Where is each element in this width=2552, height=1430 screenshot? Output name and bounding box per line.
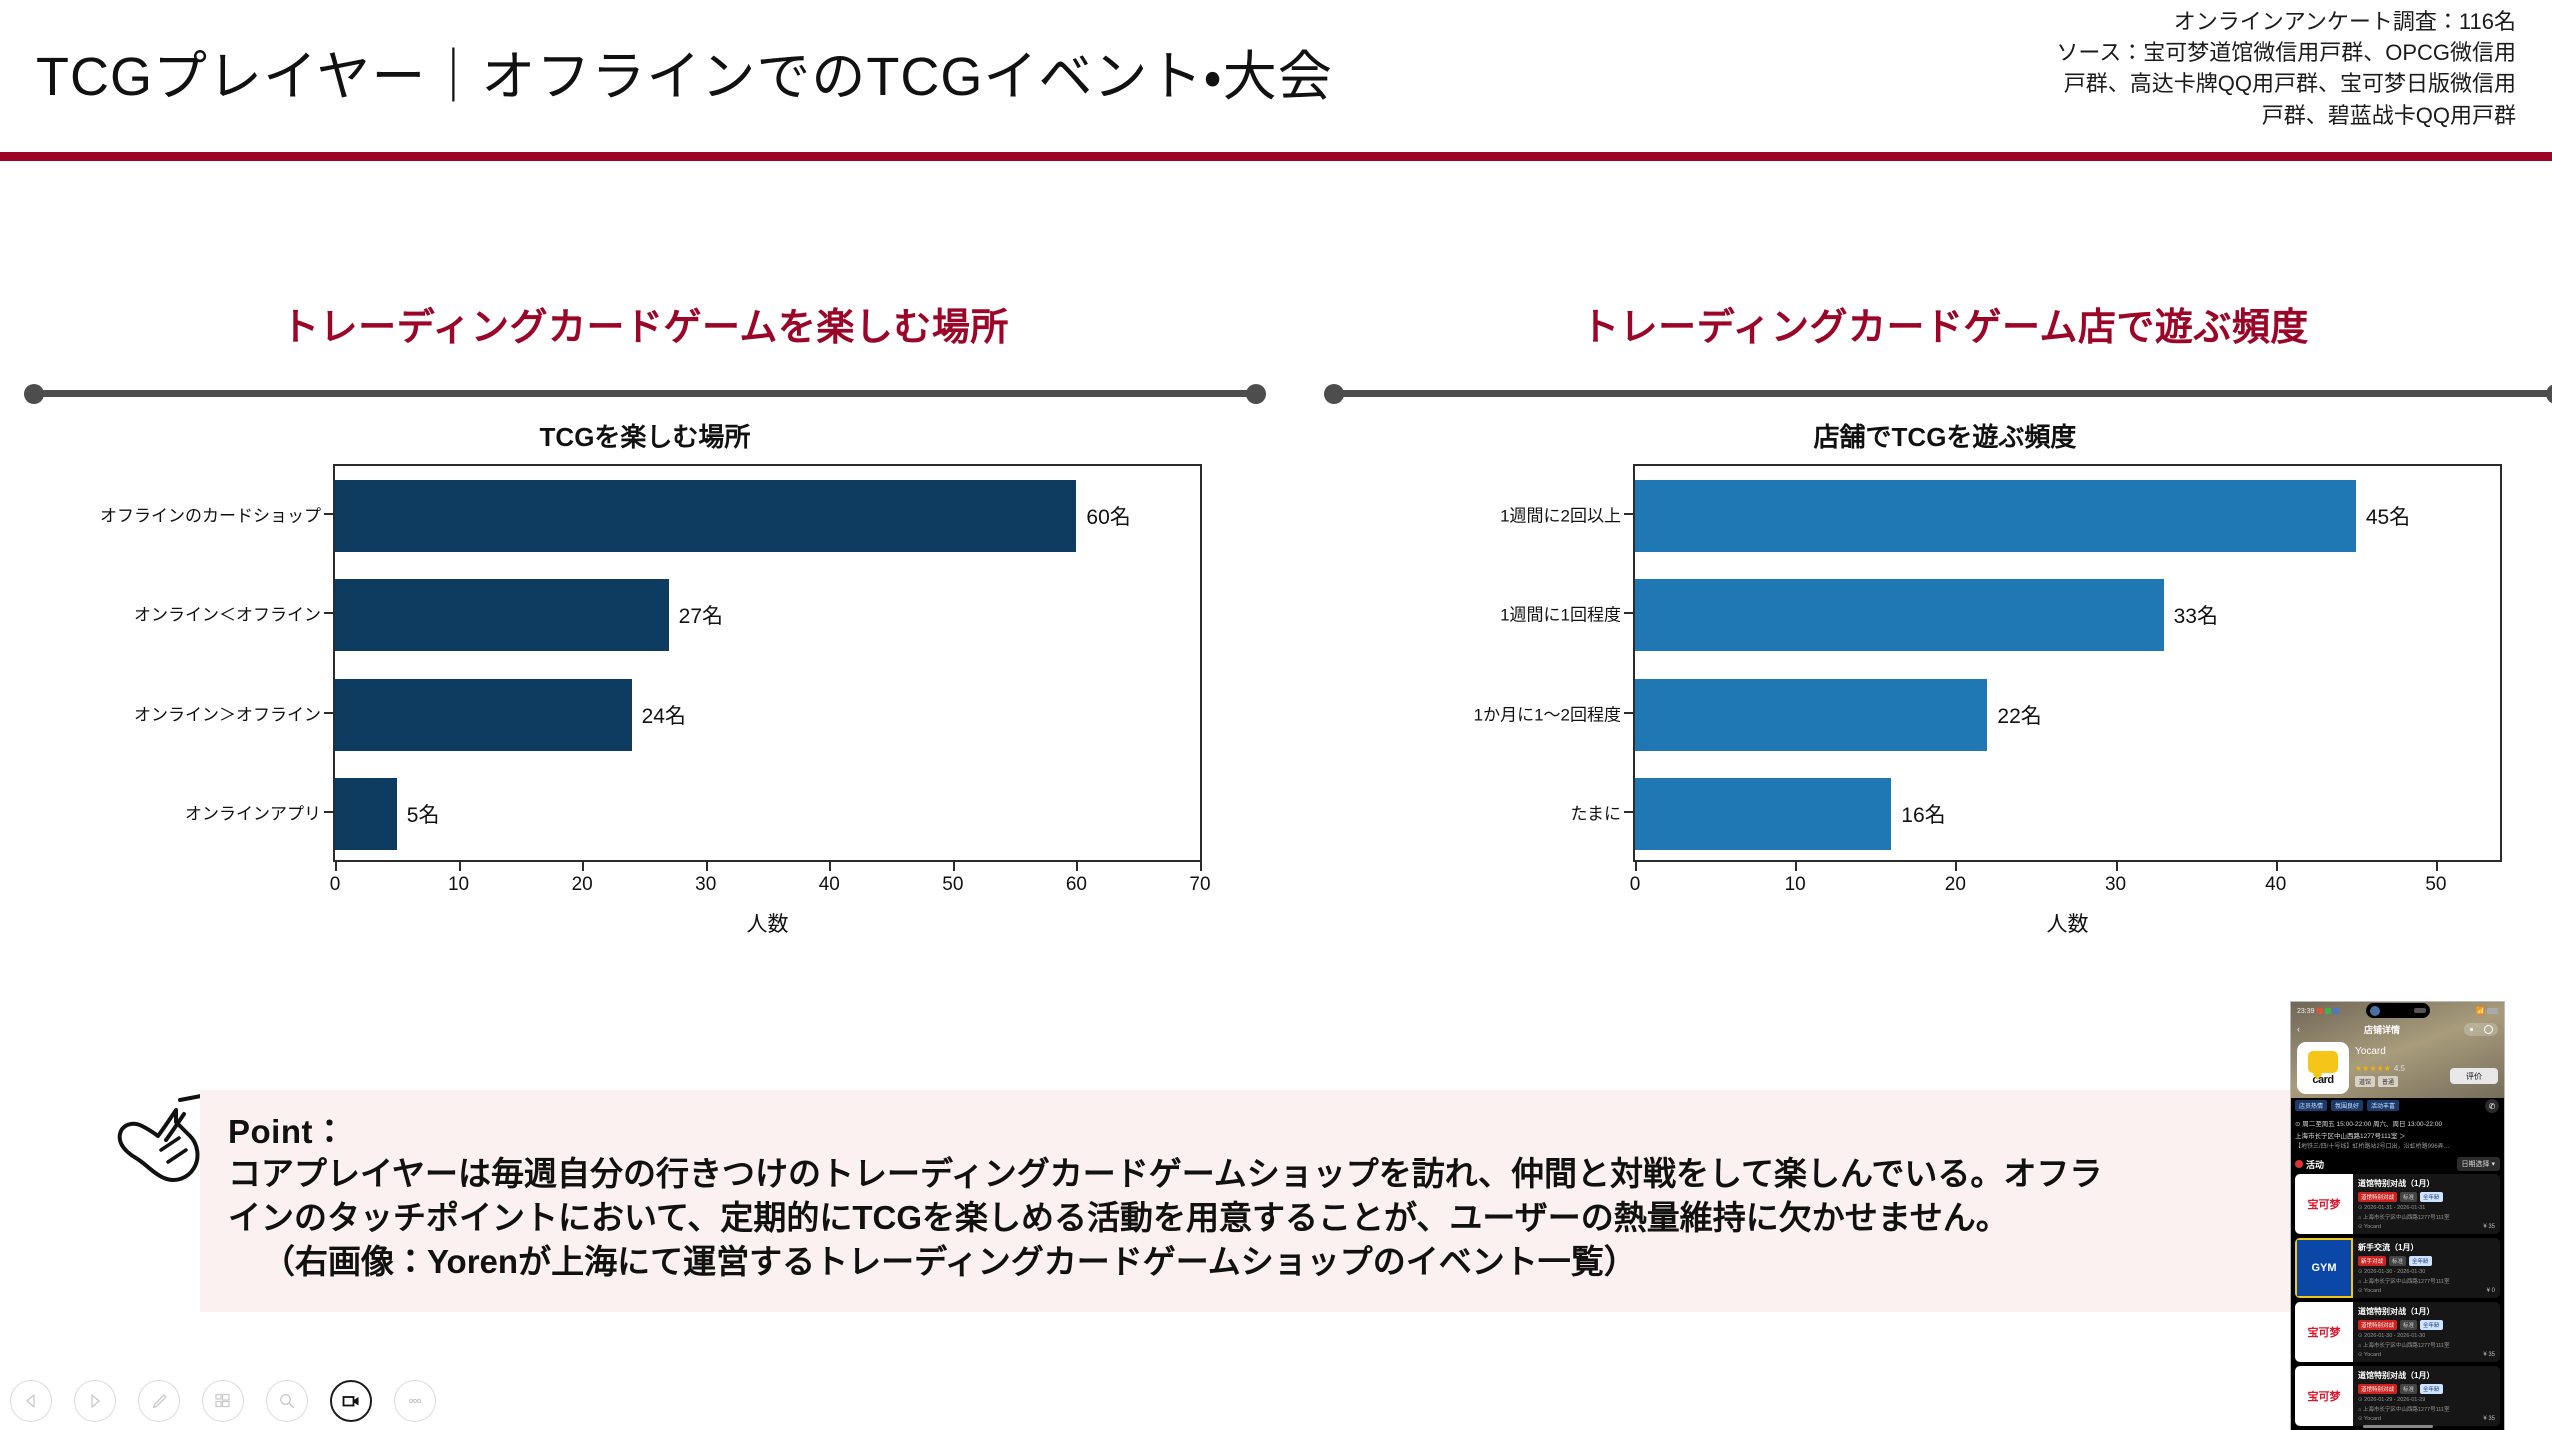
plot-box-left: 60名27名24名5名 [333,464,1202,862]
point-label: Point： [228,1112,2280,1152]
panel-divider-right [1320,382,2552,404]
x-axis-title-right: 人数 [1633,908,2502,938]
stars-icon: ★★★★★ [2355,1064,2391,1073]
shop-hours: ⊙ 周二至周五 15:00-22:00 周六、周日 13:00-22:00 [2295,1118,2500,1128]
panel-heading-right: トレーディングカードゲーム店で遊ぶ頻度 [1320,300,2552,360]
shop-chip: 普通 [2378,1076,2398,1087]
shop-rating: ★★★★★4.5 [2355,1064,2405,1073]
header-accent-rule [0,152,2552,161]
shop-transit: 【地铁三/四/十号线】虹桥路站2号口出，沿虹桥路996弄… [2295,1141,2500,1150]
event-date: ⊙ 2026-01-29 - 2026-01-29 [2358,1397,2496,1403]
bar [1635,679,1987,751]
divider-dot-right [2546,384,2552,404]
event-badge: 标准 [2400,1384,2417,1394]
event-name: 道馆特别对战（1月） [2358,1178,2496,1189]
event-card[interactable]: 宝可梦道馆特别对战（1月）道馆特别对战标准全年龄⊙ 2026-01-29 - 2… [2295,1366,2500,1426]
category-tick [324,811,333,813]
category-label: オンライン＞オフライン [20,700,333,725]
event-badge: 全年龄 [2420,1384,2443,1394]
bar-row: 27名 [335,579,1200,651]
x-tick-label: 70 [1189,874,1210,896]
x-tick-mark [2436,862,2438,871]
bar-value-label: 33名 [2164,600,2218,630]
x-axis-title-left: 人数 [333,908,1202,938]
bar-row: 60名 [335,480,1200,552]
event-badge: 标准 [2400,1320,2417,1330]
x-tick-mark [829,862,831,871]
bar-value-label: 45名 [2356,501,2410,531]
phone-nav-bar: ‹ 店铺详情 [2291,1020,2504,1038]
triangle-right-icon [87,1393,103,1409]
phone-nav-title: 店铺详情 [2300,1023,2464,1036]
category-label: オフラインのカードショップ [20,501,333,526]
bar [335,579,669,651]
presentation-toolbar [10,1380,436,1422]
divider-line [1332,390,2552,397]
event-info: 道馆特别对战（1月）道馆特别对战标准全年龄⊙ 2026-01-30 - 2026… [2353,1302,2500,1362]
x-tick-mark [953,862,955,871]
x-tick-label: 50 [2425,874,2446,896]
plot-area-right: 45名33名22名16名 1週間に2回以上1週間に1回程度1か月に1〜2回程度た… [1320,456,2552,926]
thumbnails-button[interactable] [202,1380,244,1422]
triangle-left-icon [23,1393,39,1409]
event-badge: 道馆特别对战 [2358,1192,2397,1202]
event-badge: 全年龄 [2420,1320,2443,1330]
divider-line [32,390,1258,397]
event-organizer: ⊙ Yocard [2358,1352,2496,1358]
magnifier-icon [278,1392,296,1410]
bar-row: 5名 [335,778,1200,850]
pen-button[interactable] [138,1380,180,1422]
x-tick-mark [1076,862,1078,871]
dynamic-island [2366,1003,2430,1018]
shop-name: Yocard [2355,1046,2386,1057]
events-section-label: 活动 [2306,1158,2324,1171]
bars-layer-left: 60名27名24名5名 [335,466,1200,860]
event-organizer: ⊙ Yocard [2358,1416,2496,1422]
event-badge: 道馆特别对战 [2358,1320,2397,1330]
bar-row: 24名 [335,679,1200,751]
category-label: オンライン＜オフライン [20,601,333,626]
point-line-3: （右画像：Yorenが上海にて運営するトレーディングカードゲームショップのイベン… [228,1240,2280,1284]
category-label: 1週間に1回程度 [1320,601,1633,626]
event-name: 道馆特别对战（1月） [2358,1306,2496,1317]
event-name: 道馆特别对战（1月） [2358,1370,2496,1381]
event-badges: 道馆特别对战标准全年龄 [2358,1384,2496,1394]
review-button[interactable]: 评价 [2450,1068,2498,1084]
ellipsis-icon [2470,1028,2473,1031]
panel-divider-left [20,382,1270,404]
bars-layer-right: 45名33名22名16名 [1635,466,2500,860]
x-tick-label: 0 [330,874,341,896]
phone-screenshot: 23:39 📶 ‹ 店铺详情 card Yocard ★★★★★4.5 道馆 普… [2291,1002,2504,1430]
video-button[interactable] [330,1380,372,1422]
event-date: ⊙ 2026-01-30 - 2026-01-30 [2358,1269,2496,1275]
event-name: 新手交流（1月） [2358,1242,2496,1253]
close-circle-icon[interactable] [2484,1025,2493,1034]
panel-left: トレーディングカードゲームを楽しむ場所 TCGを楽しむ場所 60名27名24名5… [20,300,1270,942]
event-venue: ⌂ 上海市长宁区中山西路1277号111室 [2358,1213,2496,1221]
bar [1635,778,1891,850]
slide-header: TCGプレイヤー｜オフラインでのTCGイベント・大会 オンラインアンケート調査：… [0,0,2552,160]
logo-mark-icon [2308,1051,2338,1073]
bar-row: 45名 [1635,480,2500,552]
bar-value-label: 16名 [1891,799,1945,829]
status-app-icon [2333,1008,2339,1014]
previous-slide-button[interactable] [10,1380,52,1422]
bar-row: 16名 [1635,778,2500,850]
event-card[interactable]: 宝可梦道馆特别对战（1月）道馆特别对战标准全年龄⊙ 2026-01-31 - 2… [2295,1174,2500,1234]
home-indicator [2363,1425,2433,1428]
bar-value-label: 5名 [397,799,440,829]
panel-right: トレーディングカードゲーム店で遊ぶ頻度 店舗でTCGを遊ぶ頻度 45名33名22… [1320,300,2552,942]
category-tick [1624,612,1633,614]
event-thumbnail: GYM [2295,1238,2353,1298]
event-organizer: ⊙ Yocard [2358,1288,2496,1294]
shop-type-chips: 道馆 普通 [2355,1076,2398,1087]
events-section-header: 活动 日期选择 ▾ [2295,1156,2500,1172]
wifi-icon: 📶 [2476,1007,2485,1015]
shop-address[interactable]: 上海市长宁区中山西路1277号111室 ＞ [2295,1130,2500,1140]
x-tick-mark [459,862,461,871]
status-app-icon [2325,1008,2331,1014]
grid-icon [214,1392,232,1410]
status-app-icon [2317,1008,2323,1014]
category-tick [1624,712,1633,714]
event-thumbnail: 宝可梦 [2295,1302,2353,1362]
category-tick [324,612,333,614]
chart-right: 店舗でTCGを遊ぶ頻度 45名33名22名16名 1週間に2回以上1週間に1回程… [1320,422,2552,942]
event-badges: 道馆特别对战标准全年龄 [2358,1192,2496,1202]
event-price: ¥ 35 [2483,1224,2495,1230]
shop-tag: 氛围良好 [2331,1100,2363,1111]
rating-value: 4.5 [2394,1064,2405,1073]
x-tick-mark [1955,862,1957,871]
page-title: TCGプレイヤー｜オフラインでのTCGイベント・大会 [36,32,1333,111]
x-tick-label: 20 [572,874,593,896]
next-slide-button[interactable] [74,1380,116,1422]
event-card[interactable]: 宝可梦道馆特别对战（1月）道馆特别对战标准全年龄⊙ 2026-01-30 - 2… [2295,1302,2500,1362]
event-list[interactable]: 宝可梦道馆特别对战（1月）道馆特别对战标准全年龄⊙ 2026-01-31 - 2… [2291,1174,2504,1430]
x-tick-mark [2116,862,2118,871]
date-filter-dropdown[interactable]: 日期选择 ▾ [2457,1157,2500,1171]
event-badge: 新手对战 [2358,1256,2386,1266]
shop-logo: card [2297,1042,2349,1094]
plot-area-left: 60名27名24名5名 オフラインのカードショップオンライン＜オフラインオンライ… [20,456,1270,926]
event-badge: 标准 [2389,1256,2406,1266]
bar [335,778,397,850]
event-card[interactable]: GYM新手交流（1月）新手对战标准全年龄⊙ 2026-01-30 - 2026-… [2295,1238,2500,1298]
category-label: たまに [1320,800,1633,825]
chart-title-right: 店舗でTCGを遊ぶ頻度 [1320,422,2552,456]
point-callout: Point： コアプレイヤーは毎週自分の行きつけのトレーディングカードゲームショ… [200,1090,2310,1312]
x-tick-mark [1635,862,1637,871]
call-icon[interactable]: ✆ [2485,1099,2499,1113]
x-tick-label: 40 [819,874,840,896]
phone-status-time: 23:39 [2297,1008,2315,1015]
bar-row: 22名 [1635,679,2500,751]
chart-left: TCGを楽しむ場所 60名27名24名5名 オフラインのカードショップオンライン… [20,422,1270,942]
source-note: オンラインアンケート調査：116名 ソース：宝可梦道馆微信用户群、OPCG微信用… [1956,6,2516,131]
x-tick-label: 0 [1630,874,1641,896]
bar [335,480,1076,552]
shop-chip: 道馆 [2355,1076,2375,1087]
x-tick-mark [582,862,584,871]
event-date: ⊙ 2026-01-30 - 2026-01-30 [2358,1333,2496,1339]
category-tick [324,712,333,714]
event-info: 道馆特别对战（1月）道馆特别对战标准全年龄⊙ 2026-01-31 - 2026… [2353,1174,2500,1234]
mini-program-capsule[interactable] [2464,1023,2498,1036]
battery-icon [2487,1008,2498,1014]
category-tick [1624,513,1633,515]
source-line: 户群、高达卡牌QQ用户群、宝可梦日版微信用 [1956,68,2516,99]
zoom-button[interactable] [266,1380,308,1422]
panel-heading-left: トレーディングカードゲームを楽しむ場所 [20,300,1270,360]
x-tick-label: 30 [695,874,716,896]
source-line: 户群、碧蓝战卡QQ用户群 [1956,100,2516,131]
bar-value-label: 22名 [1987,700,2041,730]
bar-value-label: 60名 [1076,501,1130,531]
x-tick-label: 10 [448,874,469,896]
bar-value-label: 27名 [669,600,723,630]
event-info: 新手交流（1月）新手对战标准全年龄⊙ 2026-01-30 - 2026-01-… [2353,1238,2500,1298]
plot-box-right: 45名33名22名16名 [1633,464,2502,862]
video-camera-icon [341,1391,361,1411]
event-badges: 道馆特别对战标准全年龄 [2358,1320,2496,1330]
event-badge: 全年龄 [2420,1192,2443,1202]
x-tick-mark [2276,862,2278,871]
event-price: ¥ 35 [2483,1416,2495,1422]
event-info: 道馆特别对战（1月）道馆特别对战标准全年龄⊙ 2026-01-29 - 2026… [2353,1366,2500,1426]
x-tick-label: 50 [942,874,963,896]
event-price: ¥ 35 [2483,1352,2495,1358]
shop-tags: 店员热情 氛围良好 活动丰富 [2295,1100,2399,1111]
shop-tag: 店员热情 [2295,1100,2327,1111]
point-line-1: コアプレイヤーは毎週自分の行きつけのトレーディングカードゲームショップを訪れ、仲… [228,1152,2280,1196]
x-tick-label: 10 [1785,874,1806,896]
event-badge: 标准 [2400,1192,2417,1202]
event-venue: ⌂ 上海市长宁区中山西路1277号111室 [2358,1405,2496,1413]
x-tick-mark [1200,862,1202,871]
point-line-2: インのタッチポイントにおいて、定期的にTCGを楽しめる活動を用意することが、ユー… [228,1196,2280,1240]
avatar [2370,1006,2380,1016]
event-thumbnail: 宝可梦 [2295,1174,2353,1234]
phone-content: 店员热情 氛围良好 活动丰富 ✆ ⊙ 周二至周五 15:00-22:00 周六、… [2291,1098,2504,1430]
event-badge: 全年龄 [2409,1256,2432,1266]
event-thumbnail: 宝可梦 [2295,1366,2353,1426]
pen-icon [150,1392,168,1410]
shop-tag: 活动丰富 [2367,1100,2399,1111]
more-options-button[interactable] [394,1380,436,1422]
event-badges: 新手对战标准全年龄 [2358,1256,2496,1266]
x-tick-label: 30 [2105,874,2126,896]
x-tick-label: 20 [1945,874,1966,896]
bar-value-label: 24名 [632,700,686,730]
bar [335,679,632,751]
pokeball-icon [2295,1160,2303,1168]
bar-row: 33名 [1635,579,2500,651]
event-venue: ⌂ 上海市长宁区中山西路1277号111室 [2358,1277,2496,1285]
event-venue: ⌂ 上海市长宁区中山西路1277号111室 [2358,1341,2496,1349]
category-label: 1か月に1〜2回程度 [1320,700,1633,725]
divider-dot-right [1246,384,1266,404]
category-tick [1624,811,1633,813]
event-badge: 道馆特别对战 [2358,1384,2397,1394]
ellipsis-icon [405,1391,425,1411]
x-tick-label: 40 [2265,874,2286,896]
x-tick-label: 60 [1066,874,1087,896]
x-tick-mark [1795,862,1797,871]
event-organizer: ⊙ Yocard [2358,1224,2496,1230]
source-line: オンラインアンケート調査：116名 [1956,6,2516,37]
waveform-icon [2414,1008,2426,1013]
bar [1635,480,2356,552]
x-tick-mark [335,862,337,871]
event-date: ⊙ 2026-01-31 - 2026-01-31 [2358,1205,2496,1211]
category-label: 1週間に2回以上 [1320,501,1633,526]
x-tick-mark [706,862,708,871]
category-label: オンラインアプリ [20,800,333,825]
category-tick [324,513,333,515]
source-line: ソース：宝可梦道馆微信用户群、OPCG微信用 [1956,37,2516,68]
bar [1635,579,2164,651]
chart-title-left: TCGを楽しむ場所 [20,422,1270,456]
event-price: ¥ 0 [2487,1288,2495,1294]
